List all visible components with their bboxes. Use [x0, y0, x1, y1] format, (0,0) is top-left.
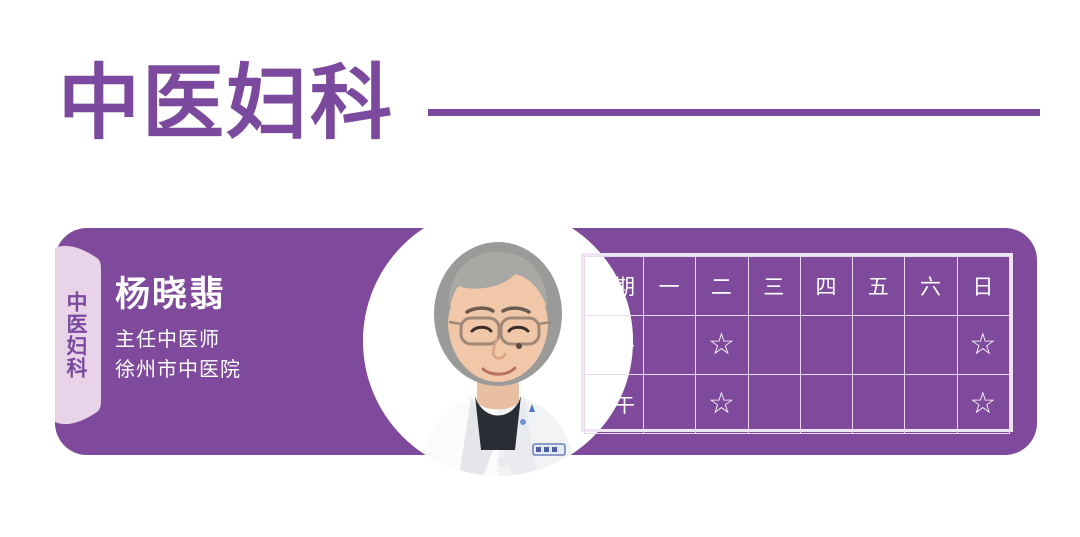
table-row-label: 下午 — [585, 375, 644, 434]
table-header-cell: 六 — [905, 257, 957, 316]
table-cell — [905, 316, 957, 375]
table-cell — [905, 375, 957, 434]
table-header-cell: 一 — [644, 257, 696, 316]
table-cell — [800, 316, 852, 375]
title-rule-divider — [428, 109, 1040, 116]
table-cell: ☆ — [957, 375, 1009, 434]
table-row-label: 上午 — [585, 316, 644, 375]
table-cell — [644, 375, 696, 434]
table-header-cell: 五 — [853, 257, 905, 316]
table-header-cell: 二 — [696, 257, 748, 316]
table-header-row: 星期 一 二 三 四 五 六 日 — [585, 257, 1010, 316]
table-cell — [853, 316, 905, 375]
doctor-card: 中医妇科 杨晓翡 主任中医师 徐州市中医院 — [55, 228, 1037, 455]
table-header-cell: 三 — [748, 257, 800, 316]
table-cell — [644, 316, 696, 375]
table-cell: ☆ — [696, 375, 748, 434]
table-row: 下午 ☆ ☆ — [585, 375, 1010, 434]
doctor-info: 杨晓翡 主任中医师 徐州市中医院 — [115, 274, 365, 384]
table-cell — [853, 375, 905, 434]
table-header-cell: 星期 — [585, 257, 644, 316]
page-title: 中医妇科 — [58, 56, 394, 152]
table-cell — [748, 375, 800, 434]
table-row: 上午 ☆ ☆ — [585, 316, 1010, 375]
doctor-hospital: 徐州市中医院 — [115, 354, 365, 384]
table-cell: ☆ — [696, 316, 748, 375]
table-header-cell: 日 — [957, 257, 1009, 316]
department-ribbon: 中医妇科 — [55, 242, 103, 428]
doctor-name: 杨晓翡 — [115, 274, 365, 316]
table-cell — [800, 375, 852, 434]
ribbon-label: 中医妇科 — [55, 242, 97, 428]
poster-canvas: 中医妇科 中医妇科 杨晓翡 主任中医师 徐州市中医院 — [0, 0, 1080, 537]
doctor-role: 主任中医师 — [115, 324, 365, 354]
table-header-cell: 四 — [800, 257, 852, 316]
table-cell — [748, 316, 800, 375]
table-cell: ☆ — [957, 316, 1009, 375]
schedule-table: 星期 一 二 三 四 五 六 日 上午 ☆ — [581, 253, 1013, 432]
